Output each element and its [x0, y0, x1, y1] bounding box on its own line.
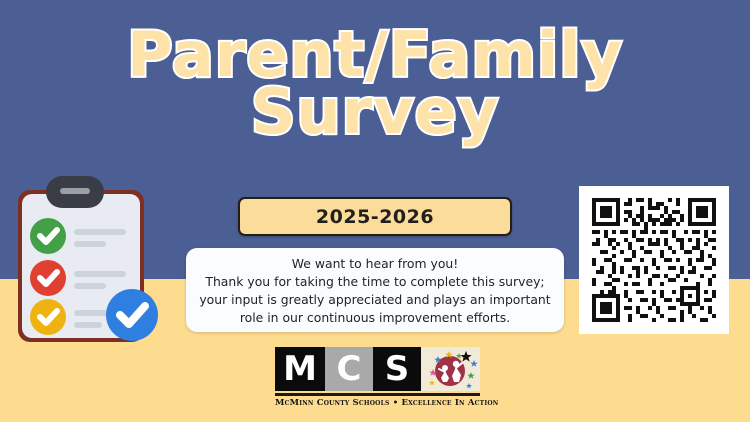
qr-code-panel[interactable]	[579, 186, 729, 334]
message-line-2: Thank you for taking the time to complet…	[196, 273, 554, 291]
logo-emblem	[421, 347, 480, 391]
logo-letter-s: S	[373, 347, 421, 391]
message-line-3: your input is greatly appreciated and pl…	[196, 291, 554, 309]
survey-poster: Parent/Family Survey 2025-2026 We want t…	[0, 0, 750, 422]
survey-clipboard-illustration	[8, 172, 168, 350]
message-line-1: We want to hear from you!	[196, 255, 554, 273]
school-year-label: 2025-2026	[316, 206, 434, 228]
logo-letter-m: M	[275, 347, 325, 391]
message-box: We want to hear from you! Thank you for …	[186, 248, 564, 332]
school-year-badge: 2025-2026	[238, 197, 512, 236]
logo-letter-c: C	[325, 347, 373, 391]
students-stars-emblem-icon	[421, 347, 480, 391]
message-line-4: role in our continuous improvement effor…	[196, 309, 554, 327]
logo-tagline: McMinn County Schools • Excellence In Ac…	[275, 398, 480, 408]
logo-divider	[275, 393, 480, 396]
qr-code-icon[interactable]	[588, 194, 720, 326]
mcs-logo-letters: M C S	[275, 347, 480, 391]
mcs-logo: M C S	[275, 347, 480, 413]
